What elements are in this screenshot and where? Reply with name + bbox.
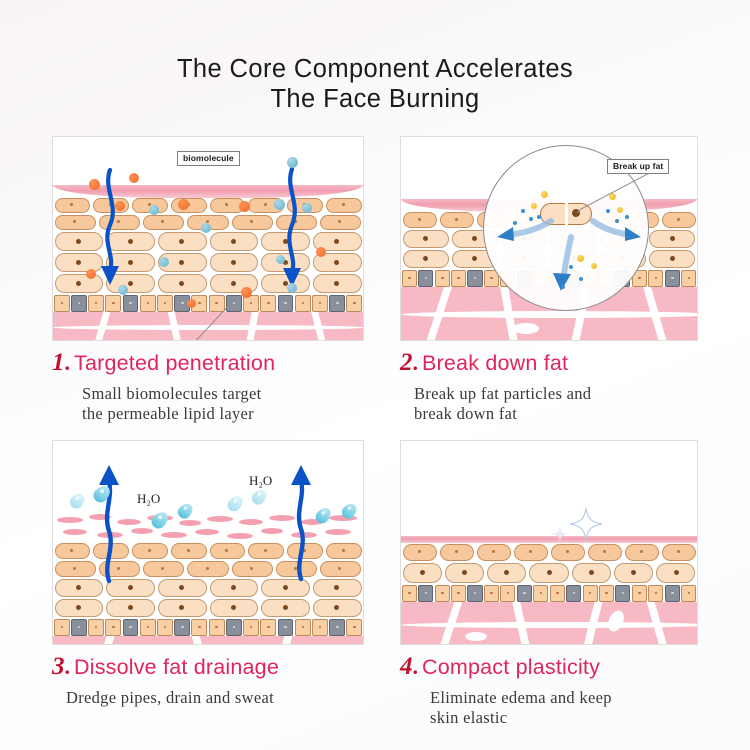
basal-cell [451,585,466,602]
cell-nucleus [547,570,552,575]
skin-cell [662,212,696,228]
particle-orange [239,201,250,212]
skin-cell [403,563,442,583]
skin-cell [662,544,696,561]
basal-cell [435,585,450,602]
caption-number: 2 [400,350,413,375]
skin-cell [588,544,622,561]
cell-nucleus [472,256,477,261]
skin-cell [614,563,653,583]
basal-cell [648,585,663,602]
fat-web [401,622,697,628]
penetration-arrows [53,137,364,341]
caption-heading: 3 . Dissolve fat drainage [52,654,364,680]
basal-cell-layer [401,585,697,602]
basal-cell [533,585,548,602]
basal-cell [484,585,499,602]
particle-blue-dot [569,265,573,269]
caption-description: Small biomolecules target the permeable … [82,384,364,424]
particle-blue-dot [579,277,583,281]
cell-nucleus [420,570,425,575]
page-title-line-1: The Core Component Accelerates [177,55,573,83]
skin-cell [656,563,695,583]
cell-nucleus [640,550,643,553]
basal-cell [402,585,417,602]
particle-blue-dot [529,217,533,221]
figure-dissolve-fat-drainage: H₂O H₂O [52,440,364,645]
cell-nucleus [455,550,458,553]
caption-number-dot: . [413,350,419,376]
skin-cell [514,544,548,561]
panel-compact-plasticity: 4 . Compact plasticity Eliminate edema a… [400,440,698,736]
caption-heading: 1 . Targeted penetration [52,350,364,376]
fat-web [605,608,627,634]
cell-nucleus [603,550,606,553]
skin-cell [445,563,484,583]
fat-web [401,311,697,318]
subcutaneous-fat-layer [401,602,697,645]
skin-cell [551,544,585,561]
caption-compact-plasticity: 4 . Compact plasticity Eliminate edema a… [400,645,698,728]
caption-description-line-1: Break up fat particles and [414,384,698,404]
skin-cell [572,563,611,583]
caption-targeted-penetration: 1 . Targeted penetration Small biomolecu… [52,341,364,424]
particle-orange [89,179,100,190]
panel-break-down-fat: Break up fat 2 . Break down fat Break up… [400,136,698,432]
particle-blue [118,285,128,295]
cell-nucleus [670,256,675,261]
skin-cell [529,563,568,583]
caption-description-line-2: break down fat [414,404,698,424]
figure-compact-plasticity [400,440,698,645]
basal-cell [665,585,680,602]
particle-blue [287,283,297,293]
page-title-line-2: The Face Burning [0,84,750,114]
caption-description: Eliminate edema and keep skin elastic [430,688,698,728]
cell-row-2 [401,563,697,583]
cell-nucleus [418,550,421,553]
caption-title: Break down fat [422,353,568,375]
fat-web [465,632,487,641]
basal-cell [566,585,581,602]
cell-nucleus [418,218,421,221]
basal-cell [500,585,515,602]
caption-number-dot: . [413,654,419,680]
cell-nucleus [423,256,428,261]
panel-grid: biomolecule [52,136,698,736]
particle-yellow [541,191,548,198]
basal-cell [615,585,630,602]
cell-nucleus [677,218,680,221]
basal-cell [665,270,680,287]
skin-cell [477,544,511,561]
basal-cell [435,270,450,287]
particle-yellow [591,263,597,269]
basal-cell [467,585,482,602]
particle-blue [274,199,285,210]
caption-description-line-1: Eliminate edema and keep [430,688,698,708]
cell-nucleus [455,218,458,221]
skin-cell [403,230,449,248]
particle-orange [316,247,326,257]
basal-cell [583,585,598,602]
skin-cell [487,563,526,583]
particle-yellow [531,203,537,209]
caption-title: Dissolve fat drainage [74,657,279,679]
particle-blue-dot [615,219,619,223]
particle-orange [187,299,196,308]
particle-blue-dot [521,209,525,213]
cell-nucleus [472,236,477,241]
cell-nucleus [566,550,569,553]
basal-cell [681,585,696,602]
particle-orange [115,201,125,211]
figure-break-down-fat: Break up fat [400,136,698,341]
skin-cell [440,544,474,561]
caption-number: 4 [400,654,413,679]
sparkle-icon [569,507,603,541]
drainage-arrows [53,441,364,645]
caption-description-line-2: the permeable lipid layer [82,404,364,424]
particle-blue [276,255,285,264]
cell-nucleus [631,570,636,575]
callout-break-up-fat: Break up fat [607,159,669,174]
particle-blue [159,257,169,267]
particle-orange [178,199,189,210]
cell-nucleus [462,570,467,575]
basal-cell [550,585,565,602]
basal-cell [517,585,532,602]
cell-nucleus [504,570,509,575]
basal-cell [632,585,647,602]
basal-cell [418,270,433,287]
skin-cell [440,212,474,228]
caption-description: Dredge pipes, drain and sweat [66,688,364,708]
caption-break-down-fat: 2 . Break down fat Break up fat particle… [400,341,698,424]
caption-heading: 4 . Compact plasticity [400,654,698,680]
basal-cell [648,270,663,287]
cell-nucleus [670,236,675,241]
fat-web [513,323,539,334]
skin-cell [403,250,449,268]
label-h2o-right: H₂O [249,473,272,489]
panel-targeted-penetration: biomolecule [52,136,364,432]
skin-cell [649,230,695,248]
particle-orange [241,287,252,298]
caption-number-dot: . [65,654,71,680]
caption-title: Targeted penetration [74,353,275,375]
particle-blue-dot [537,215,541,219]
cell-nucleus [492,550,495,553]
cell-nucleus [589,570,594,575]
particle-blue-dot [513,221,517,225]
particle-orange [86,269,96,279]
cell-nucleus [423,236,428,241]
caption-number: 3 [52,654,65,679]
caption-description: Break up fat particles and break down fa… [414,384,698,424]
figure-targeted-penetration: biomolecule [52,136,364,341]
particle-blue-dot [561,285,565,289]
caption-description-line-1: Dredge pipes, drain and sweat [66,688,364,708]
cell-nucleus [677,550,680,553]
caption-dissolve-fat-drainage: 3 . Dissolve fat drainage Dredge pipes, … [52,645,364,708]
cell-nucleus [529,550,532,553]
particle-blue [149,205,159,215]
caption-heading: 2 . Break down fat [400,350,698,376]
sparkle-icon [549,523,571,545]
basal-cell [467,270,482,287]
skin-cell [403,212,437,228]
skin-cell [625,544,659,561]
cell-nucleus [674,570,679,575]
basal-cell [599,585,614,602]
basal-cell [681,270,696,287]
caption-number-dot: . [65,350,71,376]
caption-description-line-2: skin elastic [430,708,698,728]
basal-cell [402,270,417,287]
caption-title: Compact plasticity [422,657,600,679]
caption-number: 1 [52,350,65,375]
particle-yellow [577,255,584,262]
skin-cell [649,250,695,268]
label-h2o-left: H₂O [137,491,160,507]
panel-dissolve-fat-drainage: H₂O H₂O 3 . Dissolve fat drainage Dredge… [52,440,364,736]
cell-row-1 [401,544,697,561]
particle-blue [201,223,211,233]
caption-description-line-1: Small biomolecules target [82,384,364,404]
particle-blue-dot [625,215,629,219]
particle-orange [129,173,139,183]
basal-cell [418,585,433,602]
page-title: The Core Component Accelerates The Face … [0,54,750,114]
basal-cell [451,270,466,287]
skin-cell [403,544,437,561]
particle-blue [287,157,298,168]
particle-blue [302,203,312,213]
